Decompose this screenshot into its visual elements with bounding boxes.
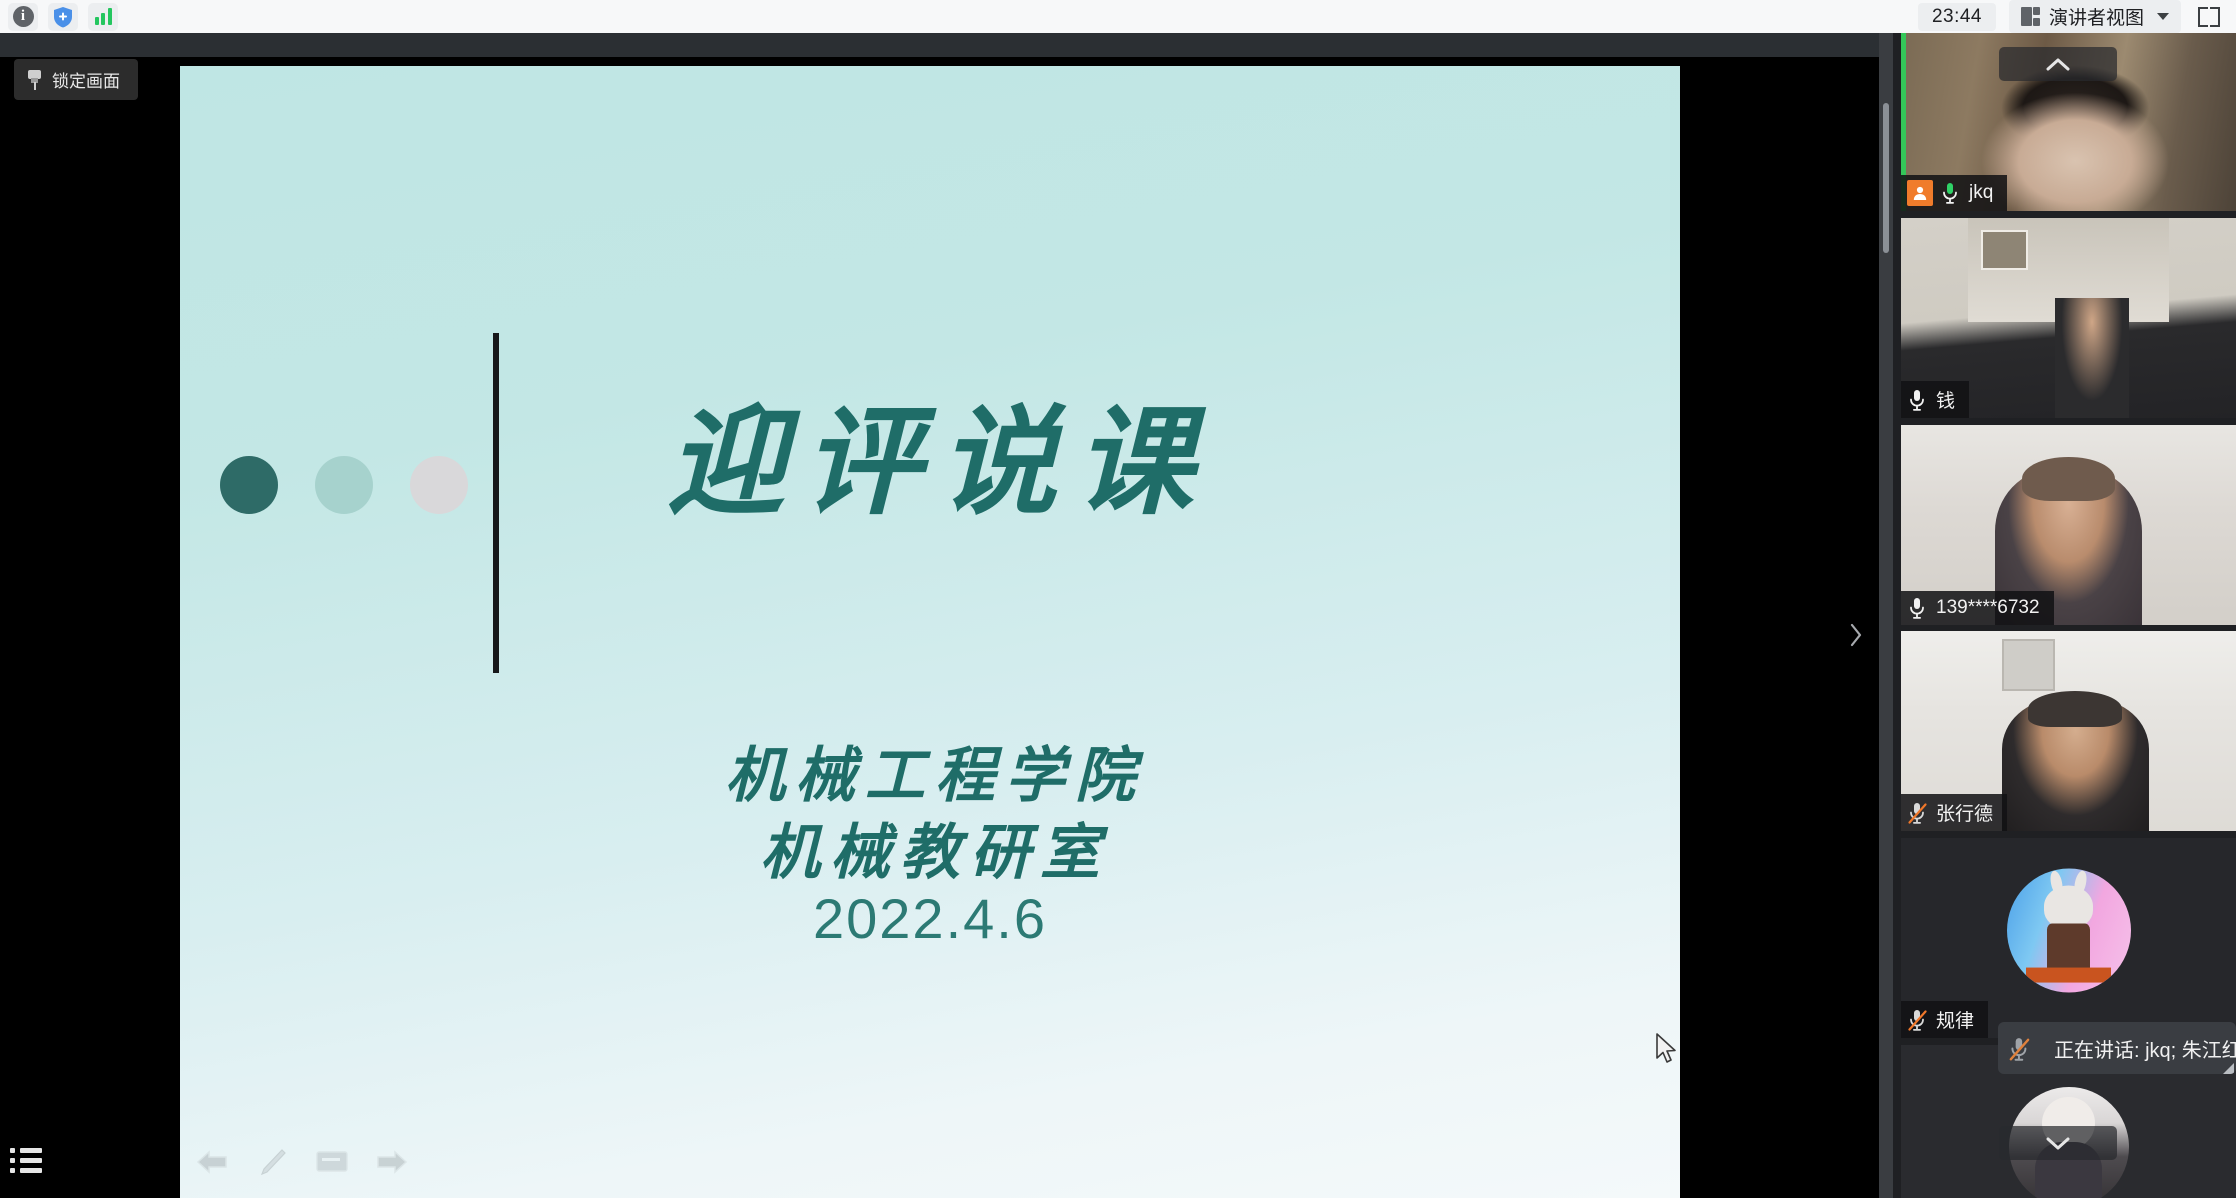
rail-scrollbar[interactable] xyxy=(1879,33,1893,1198)
notes-button[interactable] xyxy=(310,1142,354,1182)
speaking-toast-text: 正在讲话: jkq; 朱江红; xyxy=(2054,1034,2236,1063)
presentation-stage: 迎评说课 机械工程学院 机械教研室 2022.4.6 xyxy=(0,33,1879,1198)
toolbar-right-controls: 23:44 演讲者视图 xyxy=(1918,0,2236,33)
arrow-left-icon xyxy=(195,1148,229,1176)
participant-name: 张行德 xyxy=(1936,799,1993,826)
mic-unmuted-icon xyxy=(1940,181,1962,205)
participant-name: jkq xyxy=(1969,182,1993,204)
chevron-down-icon xyxy=(2157,13,2169,20)
participant-name: 139****6732 xyxy=(1936,597,2040,619)
lock-screen-button[interactable]: 锁定画面 xyxy=(14,59,138,100)
info-icon: i xyxy=(13,6,34,27)
mic-muted-icon xyxy=(1907,801,1929,825)
info-button[interactable]: i xyxy=(8,3,38,31)
mouse-pointer-icon xyxy=(1655,1033,1681,1067)
avatar xyxy=(2007,869,2131,993)
participant-label: 规律 xyxy=(1901,1001,1988,1038)
pen-tool-button[interactable] xyxy=(250,1142,294,1182)
participant-label: 钱 xyxy=(1901,381,1969,418)
scroll-down-button[interactable] xyxy=(1999,1126,2117,1160)
participant-tile[interactable]: 规律 xyxy=(1901,838,2236,1038)
arrow-right-icon xyxy=(375,1148,409,1176)
mic-unmuted-icon xyxy=(1907,388,1929,412)
toast-caret-icon xyxy=(2223,1063,2234,1074)
signal-button[interactable] xyxy=(88,3,118,31)
previous-slide-button[interactable] xyxy=(190,1142,234,1182)
slide-canvas[interactable]: 迎评说课 机械工程学院 机械教研室 2022.4.6 xyxy=(180,66,1680,1198)
list-menu-icon[interactable] xyxy=(10,1146,44,1176)
meeting-window: i 23:44 xyxy=(0,0,2236,1198)
fullscreen-icon xyxy=(2198,7,2208,17)
participant-tile[interactable]: 钱 xyxy=(1901,218,2236,418)
rail-scrollbar-thumb[interactable] xyxy=(1883,103,1889,253)
mic-muted-icon xyxy=(2008,1036,2030,1060)
collapse-panel-button[interactable] xyxy=(1845,615,1867,655)
chevron-up-icon xyxy=(2045,57,2071,72)
chevron-down-icon xyxy=(2045,1136,2071,1151)
participant-name: 规律 xyxy=(1936,1006,1974,1033)
signal-bars-icon xyxy=(95,8,112,25)
shield-button[interactable] xyxy=(48,3,78,31)
slide-subtitle-line2: 机械教研室 xyxy=(180,815,1680,892)
lock-screen-label: 锁定画面 xyxy=(52,67,120,92)
participant-label: 139****6732 xyxy=(1901,591,2054,625)
slide-toolbar xyxy=(180,1134,740,1190)
participant-name: 钱 xyxy=(1936,386,1955,413)
mic-unmuted-icon xyxy=(1907,596,1929,620)
layout-icon xyxy=(2021,7,2040,26)
slide-date: 2022.4.6 xyxy=(180,886,1680,951)
participant-label: jkq xyxy=(1901,175,2007,211)
participant-tile[interactable]: 139****6732 xyxy=(1901,425,2236,625)
fullscreen-button[interactable] xyxy=(2194,4,2224,30)
note-icon xyxy=(315,1149,349,1175)
slide-title: 迎评说课 xyxy=(180,396,1680,532)
speaking-toast: 正在讲话: jkq; 朱江红; xyxy=(1998,1022,2236,1074)
shield-plus-icon xyxy=(53,6,73,28)
chevron-right-icon xyxy=(1848,622,1864,648)
browser-toolbar: i 23:44 xyxy=(0,0,2236,33)
next-slide-button[interactable] xyxy=(370,1142,414,1182)
pen-icon xyxy=(257,1147,287,1177)
participant-label: 张行德 xyxy=(1901,794,2007,831)
toolbar-left-icons: i xyxy=(0,3,118,31)
view-mode-label: 演讲者视图 xyxy=(2049,3,2144,30)
view-mode-selector[interactable]: 演讲者视图 xyxy=(2009,0,2181,33)
stage-top-strip xyxy=(0,33,1879,57)
scroll-up-button[interactable] xyxy=(1999,47,2117,81)
clock: 23:44 xyxy=(1918,3,1996,31)
slide-subtitle: 机械工程学院 机械教研室 xyxy=(180,738,1680,892)
slide-subtitle-line1: 机械工程学院 xyxy=(180,738,1680,815)
participant-tile[interactable]: 张行德 xyxy=(1901,631,2236,831)
pin-icon xyxy=(26,70,43,89)
mic-muted-icon xyxy=(1907,1008,1929,1032)
host-badge-icon xyxy=(1907,180,1933,206)
